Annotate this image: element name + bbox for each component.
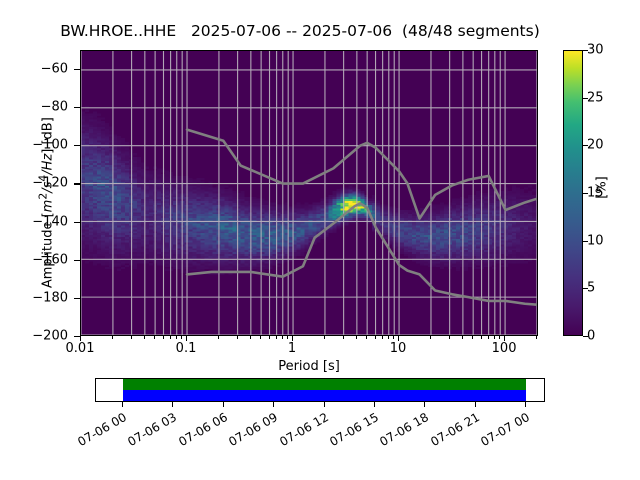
x-tick-mark [186, 336, 187, 341]
colorbar-tick-mark [583, 288, 588, 289]
x-tick-label: 10 [390, 341, 407, 356]
x-tick-mark [80, 336, 81, 341]
x-tick-label: 1 [288, 341, 296, 356]
ppsd-plot-area[interactable] [80, 50, 538, 336]
x-tick-mark-minor [250, 336, 251, 339]
colorbar[interactable] [563, 50, 583, 336]
timeline-tick-mark [424, 402, 425, 407]
x-tick-mark-minor [144, 336, 145, 339]
x-tick-mark-minor [382, 336, 383, 339]
timeline-tick-mark [475, 402, 476, 407]
page-title: BW.HROE..HHE 2025-07-06 -- 2025-07-06 (4… [0, 22, 600, 40]
colorbar-tick-label: 20 [587, 138, 604, 153]
colorbar-tick-label: 0 [587, 329, 595, 344]
timeline-tick-mark [374, 402, 375, 407]
colorbar-tick-label: 10 [587, 233, 604, 248]
x-tick-mark-minor [269, 336, 270, 339]
x-tick-mark-minor [218, 336, 219, 339]
x-tick-mark [292, 336, 293, 341]
y-tick-label: −120 [8, 176, 68, 191]
x-tick-mark-minor [287, 336, 288, 339]
x-tick-mark-minor [260, 336, 261, 339]
x-tick-mark-minor [282, 336, 283, 339]
y-tick-label: −160 [8, 252, 68, 267]
x-tick-mark-minor [388, 336, 389, 339]
y-tick-label: −100 [8, 138, 68, 153]
x-tick-mark-minor [324, 336, 325, 339]
timeline-tick-mark [324, 402, 325, 407]
timeline-tick-mark [122, 402, 123, 407]
x-tick-mark-minor [154, 336, 155, 339]
timeline-tick-mark [172, 402, 173, 407]
colorbar-tick-mark [583, 98, 588, 99]
ppsd-figure: BW.HROE..HHE 2025-07-06 -- 2025-07-06 (4… [0, 0, 640, 480]
x-tick-label: 0.1 [176, 341, 197, 356]
timeline-coverage-box[interactable] [95, 378, 545, 402]
colorbar-label: [%] [595, 168, 610, 208]
x-tick-mark-minor [430, 336, 431, 339]
x-tick-mark-minor [163, 336, 164, 339]
x-tick-mark [398, 336, 399, 341]
y-tick-label: −140 [8, 214, 68, 229]
x-tick-mark-minor [488, 336, 489, 339]
x-tick-mark-minor [237, 336, 238, 339]
colorbar-tick-label: 30 [587, 43, 604, 58]
x-tick-mark-minor [343, 336, 344, 339]
x-tick-label: 100 [492, 341, 517, 356]
x-tick-mark-minor [181, 336, 182, 339]
ppsd-density-canvas [81, 51, 537, 335]
timeline-tick-mark [525, 402, 526, 407]
x-tick-mark-minor [462, 336, 463, 339]
x-tick-mark-minor [131, 336, 132, 339]
x-tick-mark [504, 336, 505, 341]
colorbar-tick-label: 5 [587, 281, 595, 296]
x-axis-label: Period [s] [80, 359, 538, 374]
timeline-band-psd-segments [123, 390, 526, 401]
y-tick-label: −180 [8, 290, 68, 305]
x-tick-mark-minor [481, 336, 482, 339]
x-tick-mark-minor [472, 336, 473, 339]
colorbar-tick-mark [583, 336, 588, 337]
colorbar-tick-mark [583, 145, 588, 146]
y-tick-label: −60 [8, 62, 68, 77]
x-tick-label: 0.01 [66, 341, 95, 356]
x-tick-mark-minor [276, 336, 277, 339]
timeline-tick-mark [223, 402, 224, 407]
timeline-band-data-coverage [123, 379, 526, 390]
colorbar-tick-mark [583, 50, 588, 51]
y-tick-label: −200 [8, 329, 68, 344]
x-tick-mark-minor [449, 336, 450, 339]
colorbar-tick-mark [583, 193, 588, 194]
x-tick-mark-minor [176, 336, 177, 339]
x-tick-mark-minor [499, 336, 500, 339]
colorbar-tick-label: 25 [587, 90, 604, 105]
colorbar-tick-mark [583, 241, 588, 242]
y-tick-label: −80 [8, 100, 68, 115]
x-tick-mark-minor [393, 336, 394, 339]
timeline-tick-mark [273, 402, 274, 407]
x-tick-mark-minor [112, 336, 113, 339]
x-tick-mark-minor [536, 336, 537, 339]
x-tick-mark-minor [366, 336, 367, 339]
x-tick-mark-minor [494, 336, 495, 339]
x-tick-mark-minor [170, 336, 171, 339]
x-tick-mark-minor [356, 336, 357, 339]
x-tick-mark-minor [375, 336, 376, 339]
